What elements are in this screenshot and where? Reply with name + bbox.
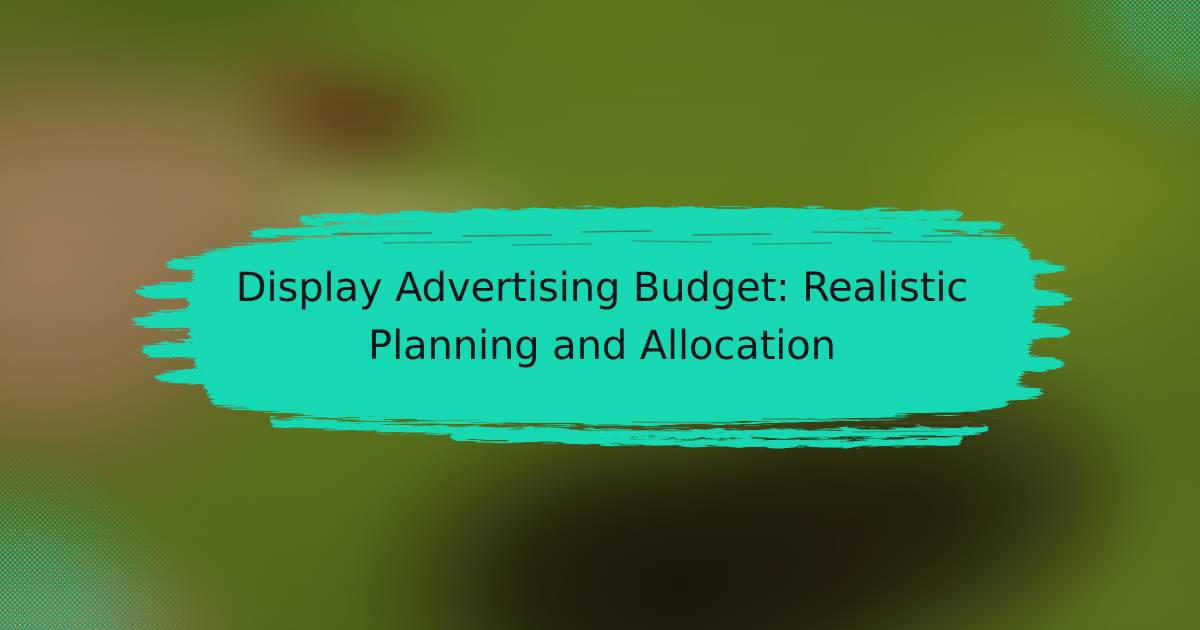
share-card-canvas: Display Advertising Budget: Realistic Pl…	[0, 0, 1200, 630]
page-title: Display Advertising Budget: Realistic Pl…	[207, 259, 997, 375]
title-block: Display Advertising Budget: Realistic Pl…	[160, 186, 1044, 448]
